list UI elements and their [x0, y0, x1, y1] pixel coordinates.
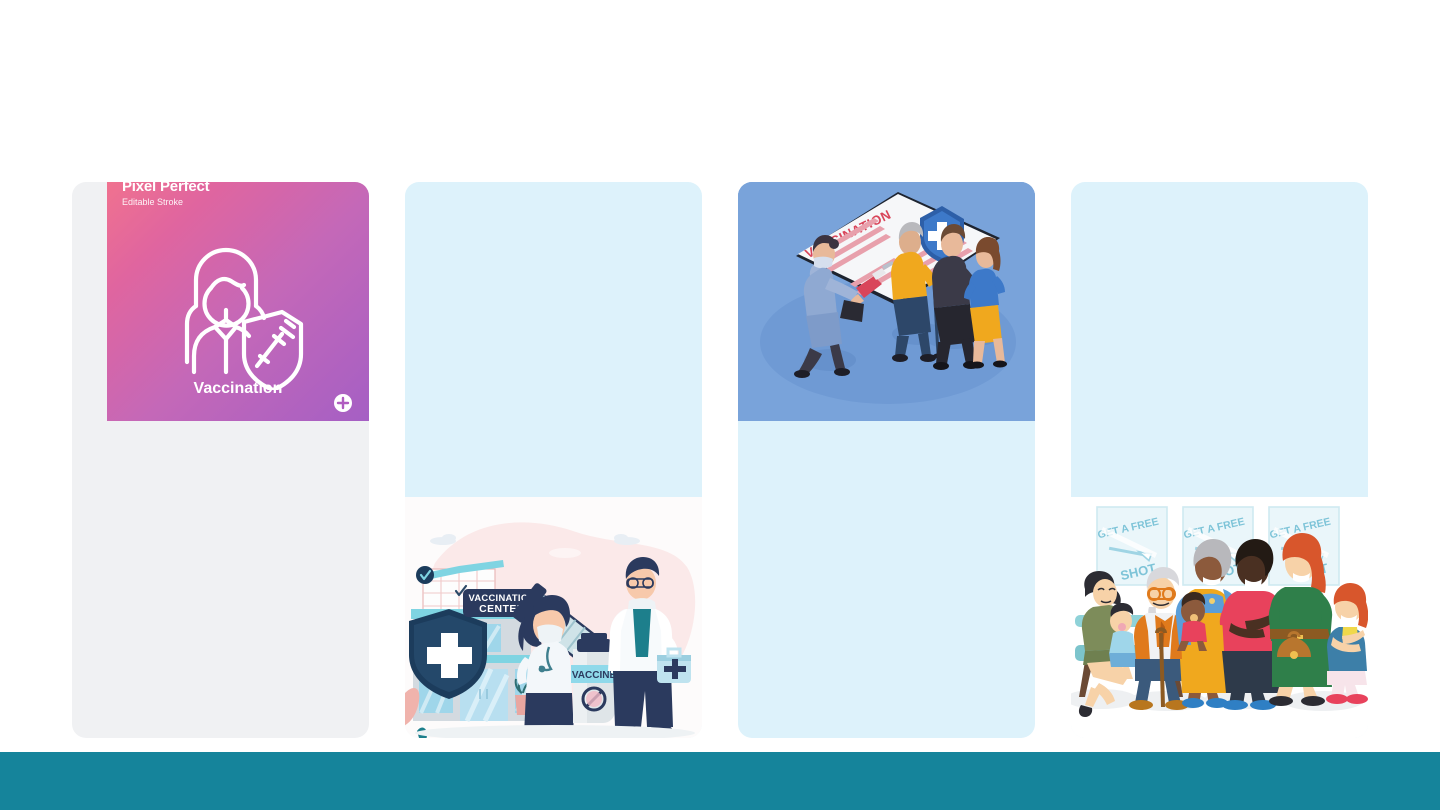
result-card[interactable]: VACCINATION — [738, 182, 1035, 738]
plus-circle-icon[interactable] — [333, 393, 353, 413]
brand-name: Pixel Perfect — [122, 182, 209, 196]
results-grid: Pixel Perfect Editable Stroke — [0, 0, 1440, 810]
result-card[interactable]: GET A FREE SHOT GET A FREE — [1071, 182, 1368, 738]
brand-watermark: Pixel Perfect Editable Stroke — [122, 182, 209, 208]
brand-subtitle: Editable Stroke — [122, 196, 209, 208]
nurse-with-shield-syringe-icon — [170, 244, 306, 390]
thumbnail-vaccination-center[interactable]: VACCINATION CENTER — [405, 497, 702, 738]
page-root: Pixel Perfect Editable Stroke — [0, 0, 1440, 810]
footer-bar — [0, 752, 1440, 810]
thumbnail-gradient-tile[interactable]: Pixel Perfect Editable Stroke — [107, 182, 369, 421]
thumbnail-caption: Vaccination — [107, 380, 369, 398]
thumbnail-isometric-vaccination[interactable]: VACCINATION — [738, 182, 1035, 421]
result-card[interactable]: Pixel Perfect Editable Stroke — [72, 182, 369, 738]
thumbnail-free-shot-queue[interactable]: GET A FREE SHOT GET A FREE — [1071, 497, 1368, 738]
result-card[interactable]: VACCINATION CENTER — [405, 182, 702, 738]
svg-text:VACCINE: VACCINE — [572, 670, 617, 681]
